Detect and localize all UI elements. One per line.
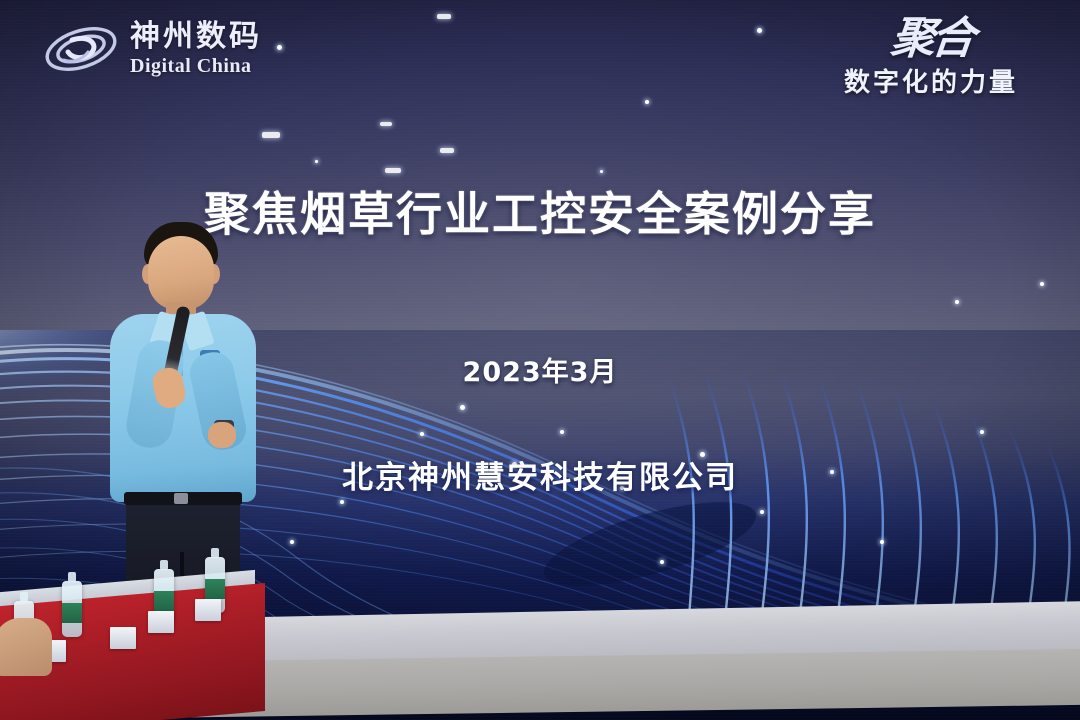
speaker-hand-right [208,422,236,448]
event-logo-calligraphy: 聚合 [804,18,1058,60]
name-card [195,599,221,621]
event-logo-tagline: 数字化的力量 [806,62,1056,99]
speaker-presenter [96,222,266,622]
conference-stage-photo: 神州数码 Digital China 聚合 数字化的力量 聚焦烟草行业工控安全案… [0,0,1080,720]
digital-china-swirl-icon [42,18,120,80]
front-row-attendee [0,618,52,676]
brand-name-cn: 神州数码 [130,22,262,52]
digital-china-logo: 神州数码 Digital China [42,18,262,80]
brand-name-en: Digital China [130,56,262,76]
speaker-belt-buckle [174,493,188,504]
speaker-head [148,236,214,310]
name-card [110,627,136,649]
water-bottle [62,581,82,637]
event-logo: 聚合 数字化的力量 [806,18,1056,99]
name-card [148,611,174,633]
